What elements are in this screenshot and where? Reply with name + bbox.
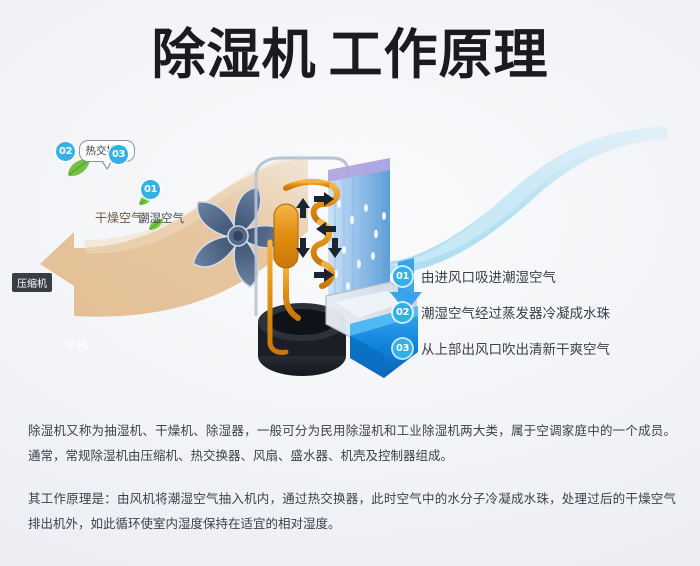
water-tank-label: 水箱 xyxy=(64,337,89,353)
dry-air-label: 干燥空气 xyxy=(95,209,143,226)
heat-exchanger-badge: 02 xyxy=(56,142,75,161)
legend-item: 01 由进风口吸进潮湿空气 xyxy=(393,258,693,294)
legend-list: 01 由进风口吸进潮湿空气 02 潮湿空气经过蒸发器冷凝成水珠 03 从上部出风… xyxy=(393,258,693,366)
moist-air-label: 潮湿空气 xyxy=(138,210,184,226)
page-title-part2: 工作原理 xyxy=(329,28,549,82)
dry-air-badge-holder: 03 xyxy=(109,145,128,164)
page-title-part1: 除湿机 xyxy=(152,28,317,82)
moist-air-badge-wrap: 01 xyxy=(141,180,160,199)
legend-badge: 03 xyxy=(393,339,412,358)
description-paragraph-2: 其工作原理是：由风机将潮湿空气抽入机内，通过热交换器，此时空气中的水分子冷凝成水… xyxy=(28,486,676,536)
dehumidifier-infographic: 除湿机工作原理 xyxy=(0,0,700,566)
legend-item: 02 潮湿空气经过蒸发器冷凝成水珠 xyxy=(393,294,693,330)
description-block: 除湿机又称为抽湿机、干燥机、除湿器，一般可分为民用除湿机和工业除湿机两大类，属于… xyxy=(28,418,676,554)
page-title: 除湿机工作原理 xyxy=(0,28,700,82)
legend-item: 03 从上部出风口吹出清新干爽空气 xyxy=(393,330,693,366)
legend-label: 潮湿空气经过蒸发器冷凝成水珠 xyxy=(421,302,610,322)
moist-air-badge: 01 xyxy=(141,180,160,199)
legend-badge: 01 xyxy=(393,267,412,286)
compressor-label: 压缩机 xyxy=(12,273,52,292)
dry-air-badge: 03 xyxy=(109,145,128,164)
description-paragraph-1: 除湿机又称为抽湿机、干燥机、除湿器，一般可分为民用除湿机和工业除湿机两大类，属于… xyxy=(28,418,676,468)
legend-label: 由进风口吸进潮湿空气 xyxy=(421,266,556,286)
legend-badge: 02 xyxy=(393,303,412,322)
legend-label: 从上部出风口吹出清新干爽空气 xyxy=(421,338,610,358)
